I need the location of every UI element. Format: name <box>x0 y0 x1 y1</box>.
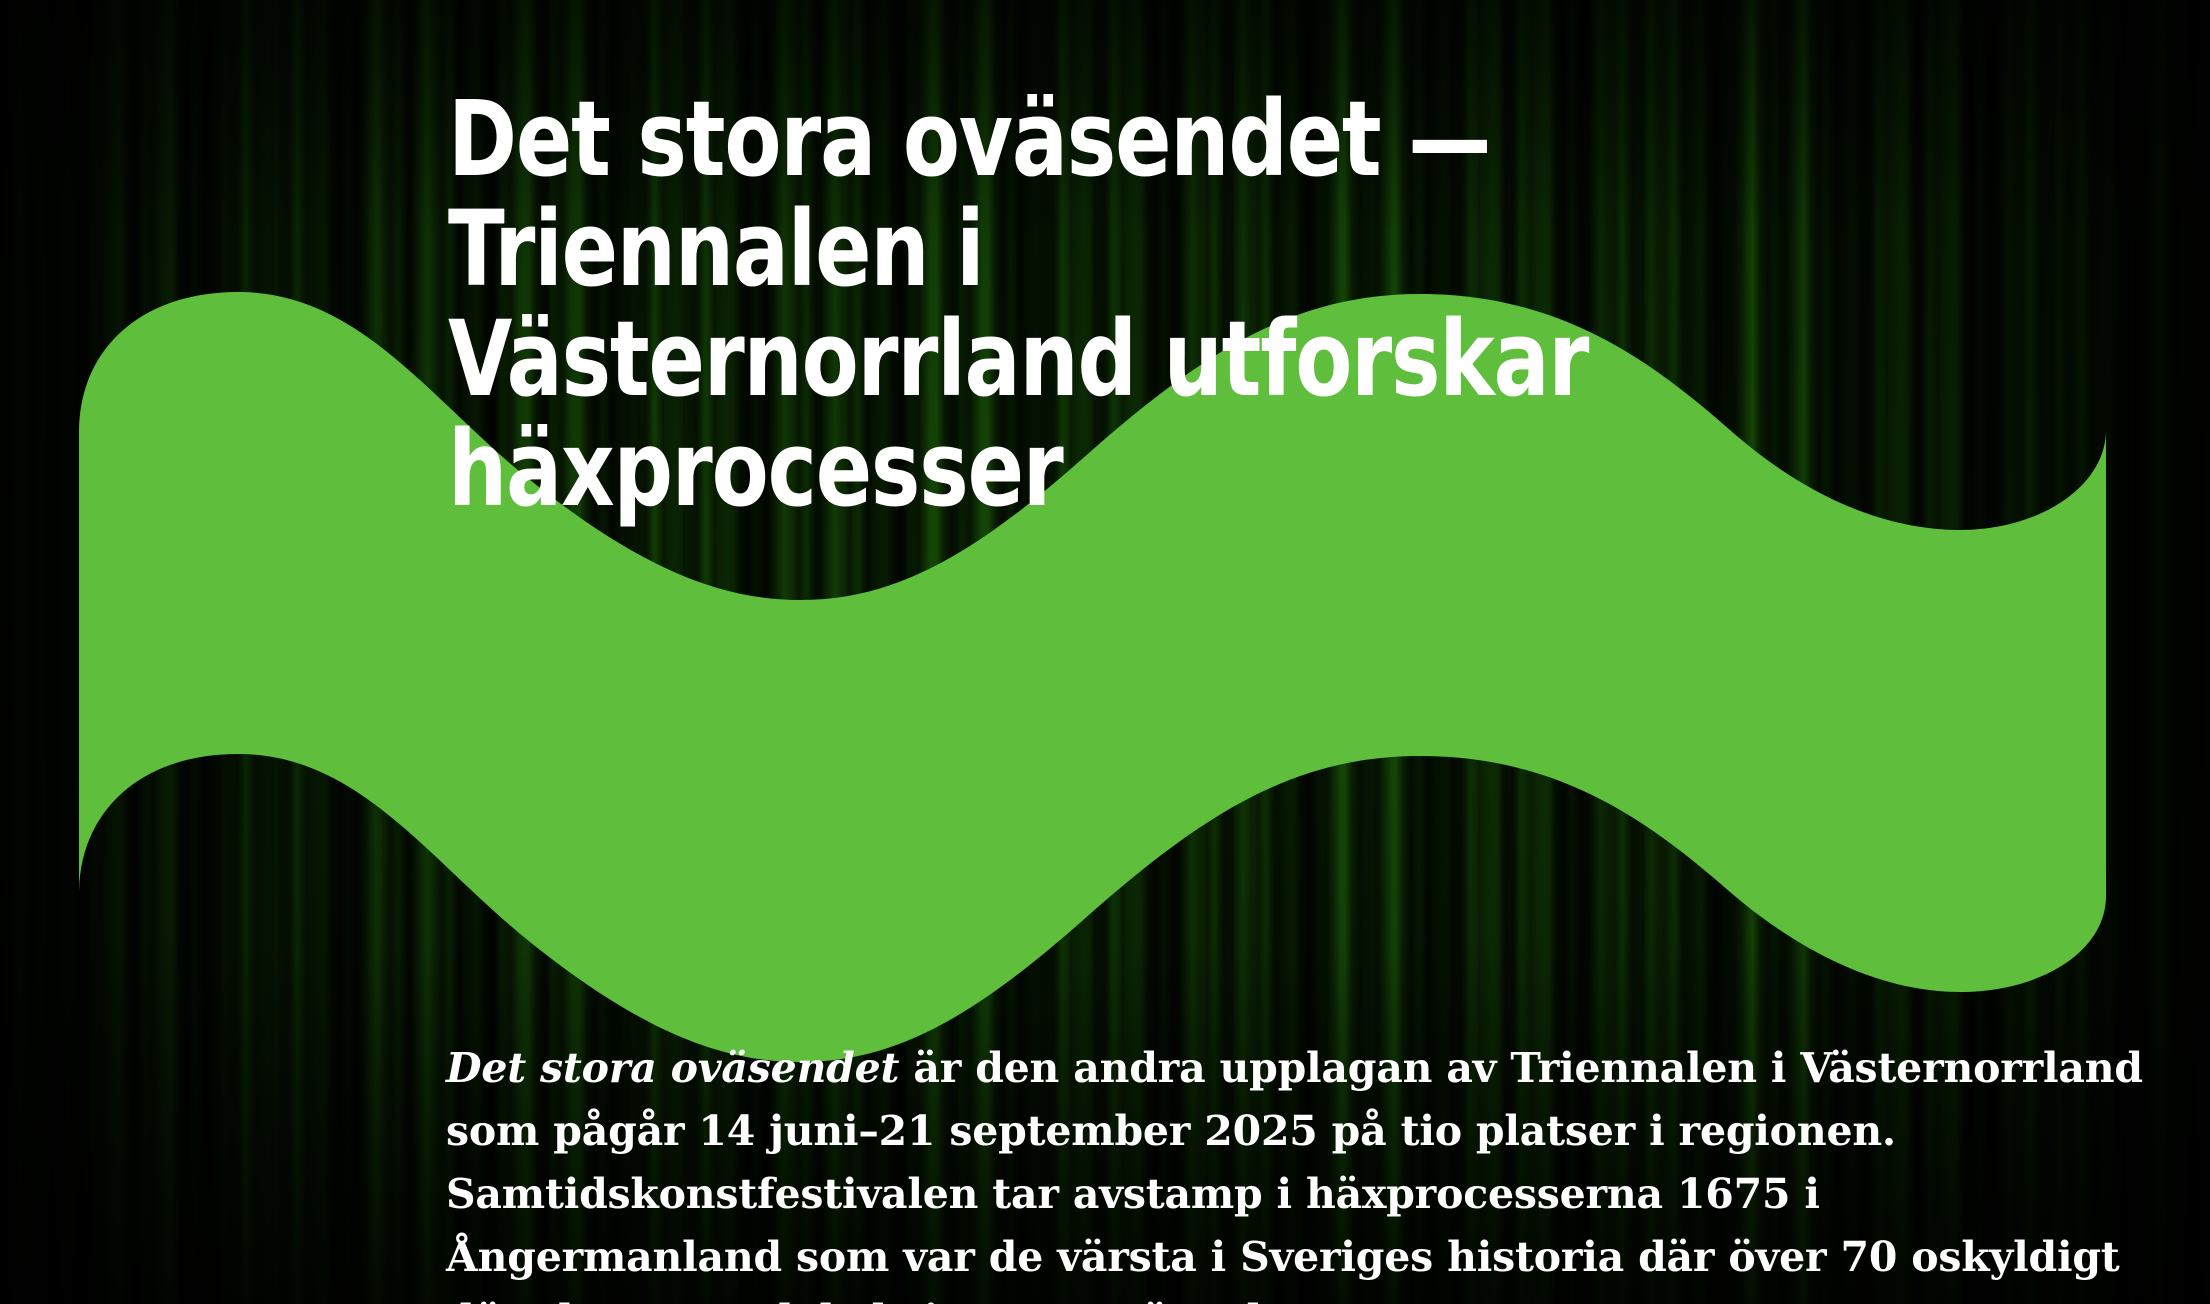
intro-paragraph: Det stora oväsendet är den andra upplaga… <box>446 1037 2158 1304</box>
intro-lead-phrase: Det stora oväsendet <box>446 1044 899 1092</box>
page-title: Det stora oväsendet — Triennalen i Väste… <box>448 84 1808 524</box>
hero-poster: Det stora oväsendet — Triennalen i Väste… <box>0 0 2210 1304</box>
